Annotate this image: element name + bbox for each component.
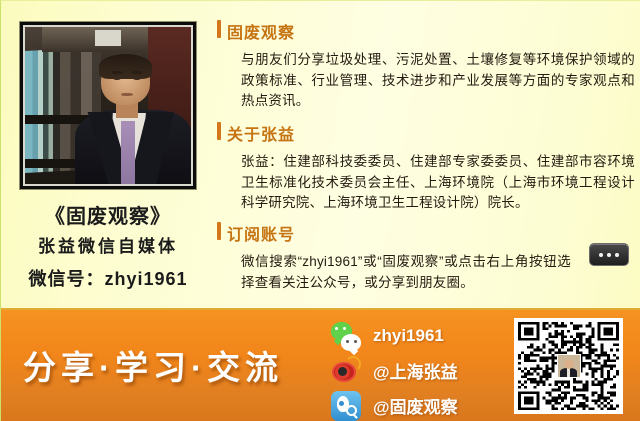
caption-wechat-id: 微信号：zhyi1961: [1, 265, 215, 291]
wechat-profile-card: 《固废观察》 张益微信自媒体 微信号：zhyi1961 固废观察 与朋友们分享垃…: [0, 0, 640, 421]
social-row-qzone[interactable]: @固废观察: [331, 388, 499, 421]
social-row-wechat[interactable]: zhyi1961: [331, 318, 499, 353]
dot-1: [599, 253, 603, 257]
social-label: zhyi1961: [373, 326, 444, 346]
wechat-icon: [331, 321, 361, 351]
section-body: 微信搜索“zhyi1961”或“固废观察”或点击右上角按钮选择查看关注公众号，或…: [215, 252, 635, 293]
dot-2: [607, 253, 611, 257]
section-body: 与朋友们分享垃圾处理、污泥处置、土壤修复等环境保护领域的政策标准、行业管理、技术…: [215, 50, 635, 112]
section-subscribe: 订阅账号 微信搜索“zhyi1961”或“固废观察”或点击右上角按钮选择查看关注…: [215, 221, 635, 293]
profile-column: 《固废观察》 张益微信自媒体 微信号：zhyi1961: [1, 1, 215, 308]
qr-center-avatar: [557, 354, 581, 378]
portrait-photo: [23, 25, 193, 186]
section-body: 张益：住建部科技委委员、住建部专家委委员、住建部市容环境卫生标准化技术委员会主任…: [215, 152, 635, 214]
banner-slogan: 分享·学习·交流: [23, 341, 283, 389]
section-about: 关于张益 张益：住建部科技委委员、住建部专家委委员、住建部市容环境卫生标准化技术…: [215, 121, 635, 214]
section-guan-cha: 固废观察 与朋友们分享垃圾处理、污泥处置、土壤修复等环境保护领域的政策标准、行业…: [215, 19, 635, 112]
section-heading: 订阅账号: [215, 221, 635, 245]
caption-subtitle: 张益微信自媒体: [1, 232, 215, 257]
social-label: @固废观察: [373, 393, 458, 418]
social-label: @上海张益: [373, 358, 458, 383]
social-row-weibo[interactable]: @上海张益: [331, 353, 499, 388]
section-heading: 关于张益: [215, 121, 635, 145]
dot-3: [615, 253, 619, 257]
social-accounts-list: zhyi1961 @上海张益 @固废观察: [331, 318, 499, 421]
bottom-banner: 分享·学习·交流 zhyi1961 @上海张益 @固废观察: [1, 308, 640, 421]
section-heading: 固废观察: [215, 19, 635, 43]
weibo-icon: [331, 356, 361, 386]
caption-title: 《固废观察》: [1, 200, 215, 229]
more-options-button[interactable]: [589, 243, 629, 266]
portrait-photo-frame: [20, 22, 196, 189]
wechat-qr-code[interactable]: [514, 318, 623, 414]
qzone-icon: [331, 391, 361, 421]
sections-column: 固废观察 与朋友们分享垃圾处理、污泥处置、土壤修复等环境保护领域的政策标准、行业…: [215, 1, 640, 308]
